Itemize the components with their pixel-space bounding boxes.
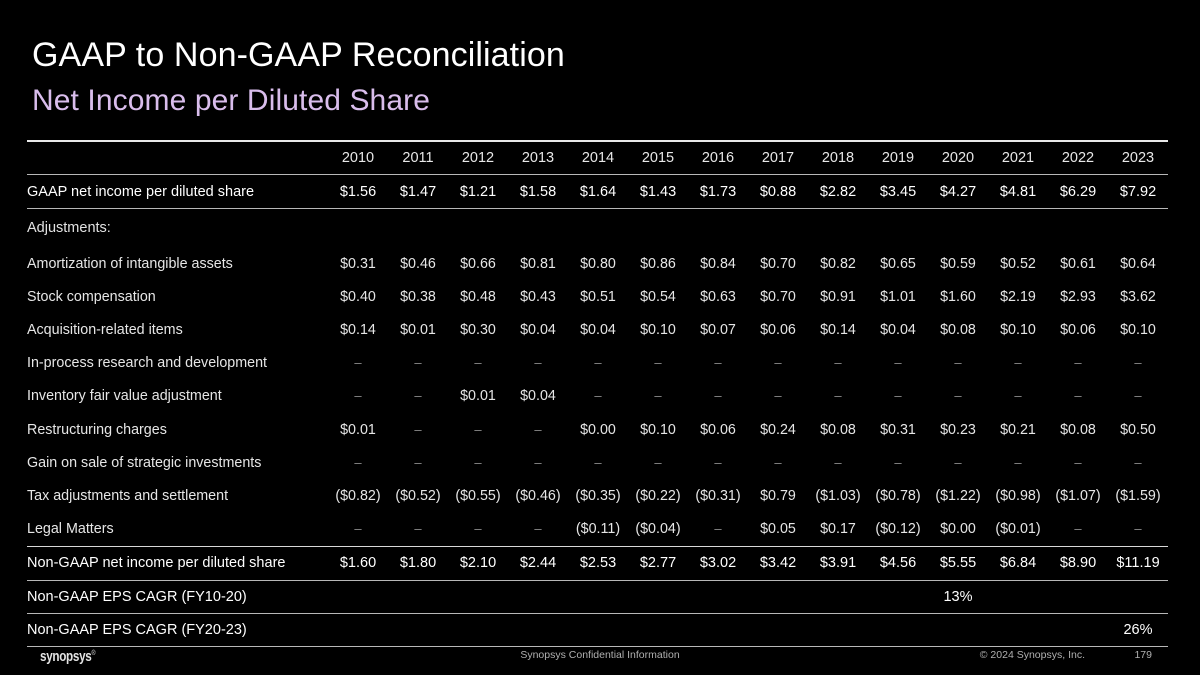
cell-adjustment-0-2015: $0.86: [628, 247, 688, 280]
cell-cagr-0-2019: [868, 580, 928, 613]
row-label-adjustment-0: Amortization of intangible assets: [27, 247, 328, 280]
column-header-year-2018: 2018: [808, 141, 868, 175]
cell-gaap-2010: $1.56: [328, 175, 388, 209]
cell-adjustment-2-2015: $0.10: [628, 313, 688, 346]
cell-adjustments-2010: [328, 209, 388, 248]
empty-value-dash: –: [1014, 388, 1021, 403]
cell-adjustment-1-2017: $0.70: [748, 280, 808, 313]
empty-value-dash: –: [774, 355, 781, 370]
cell-adjustment-2-2018: $0.14: [808, 313, 868, 346]
cell-adjustment-2-2014: $0.04: [568, 313, 628, 346]
cell-cagr-0-2012: [448, 580, 508, 613]
empty-value-dash: –: [534, 455, 541, 470]
cell-adjustment-1-2014: $0.51: [568, 280, 628, 313]
cell-cagr-0-2014: [568, 580, 628, 613]
cell-adjustment-5-2014: $0.00: [568, 413, 628, 446]
cell-nongaap-2013: $2.44: [508, 546, 568, 580]
empty-value-dash: –: [654, 355, 661, 370]
column-header-year-2020: 2020: [928, 141, 988, 175]
cell-adjustment-5-2018: $0.08: [808, 413, 868, 446]
cell-adjustment-7-2020: ($1.22): [928, 479, 988, 512]
cell-adjustment-1-2022: $2.93: [1048, 280, 1108, 313]
empty-value-dash: –: [534, 521, 541, 536]
empty-value-dash: –: [954, 455, 961, 470]
cell-nongaap-2021: $6.84: [988, 546, 1048, 580]
reconciliation-table: 2010201120122013201420152016201720182019…: [27, 140, 1168, 647]
cell-adjustments-2014: [568, 209, 628, 248]
cell-cagr-0-2021: [988, 580, 1048, 613]
cell-adjustments-2021: [988, 209, 1048, 248]
empty-value-dash: –: [354, 388, 361, 403]
column-header-year-2011: 2011: [388, 141, 448, 175]
cell-adjustment-3-2016: –: [688, 347, 748, 380]
empty-value-dash: –: [474, 355, 481, 370]
cell-adjustments-2017: [748, 209, 808, 248]
cell-adjustment-3-2020: –: [928, 347, 988, 380]
cell-adjustment-8-2022: –: [1048, 513, 1108, 547]
row-label-cagr-1: Non-GAAP EPS CAGR (FY20-23): [27, 613, 328, 646]
cell-adjustments-2012: [448, 209, 508, 248]
cell-adjustment-5-2016: $0.06: [688, 413, 748, 446]
cell-adjustment-3-2011: –: [388, 347, 448, 380]
cell-adjustment-4-2022: –: [1048, 380, 1108, 413]
cell-adjustment-7-2011: ($0.52): [388, 479, 448, 512]
cell-adjustment-1-2016: $0.63: [688, 280, 748, 313]
column-header-year-2022: 2022: [1048, 141, 1108, 175]
footer-copyright-text: © 2024 Synopsys, Inc.: [980, 649, 1085, 661]
cell-cagr-0-2010: [328, 580, 388, 613]
cell-gaap-2012: $1.21: [448, 175, 508, 209]
column-header-year-2019: 2019: [868, 141, 928, 175]
cell-adjustment-0-2022: $0.61: [1048, 247, 1108, 280]
cell-adjustment-8-2018: $0.17: [808, 513, 868, 547]
row-label-adjustment-1: Stock compensation: [27, 280, 328, 313]
cell-cagr-1-2011: [388, 613, 448, 646]
cell-adjustment-0-2019: $0.65: [868, 247, 928, 280]
column-header-year-2012: 2012: [448, 141, 508, 175]
empty-value-dash: –: [414, 355, 421, 370]
cell-nongaap-2014: $2.53: [568, 546, 628, 580]
cell-adjustment-6-2013: –: [508, 446, 568, 479]
cell-adjustment-8-2015: ($0.04): [628, 513, 688, 547]
empty-value-dash: –: [954, 388, 961, 403]
cell-gaap-2017: $0.88: [748, 175, 808, 209]
cell-gaap-2023: $7.92: [1108, 175, 1168, 209]
cell-adjustment-2-2017: $0.06: [748, 313, 808, 346]
empty-value-dash: –: [474, 521, 481, 536]
column-header-year-2017: 2017: [748, 141, 808, 175]
cell-cagr-1-2017: [748, 613, 808, 646]
cell-adjustment-7-2010: ($0.82): [328, 479, 388, 512]
cell-adjustment-4-2020: –: [928, 380, 988, 413]
empty-value-dash: –: [414, 422, 421, 437]
cell-adjustment-2-2022: $0.06: [1048, 313, 1108, 346]
cell-adjustments-2019: [868, 209, 928, 248]
cell-adjustment-6-2016: –: [688, 446, 748, 479]
cell-adjustment-6-2012: –: [448, 446, 508, 479]
cell-cagr-0-2016: [688, 580, 748, 613]
table-row: In-process research and development–––––…: [27, 347, 1168, 380]
cell-adjustment-1-2013: $0.43: [508, 280, 568, 313]
cell-gaap-2013: $1.58: [508, 175, 568, 209]
row-label-adjustment-7: Tax adjustments and settlement: [27, 479, 328, 512]
cell-adjustment-6-2022: –: [1048, 446, 1108, 479]
cell-adjustment-1-2015: $0.54: [628, 280, 688, 313]
cell-adjustment-8-2013: –: [508, 513, 568, 547]
empty-value-dash: –: [1014, 355, 1021, 370]
empty-value-dash: –: [414, 388, 421, 403]
cell-adjustment-4-2019: –: [868, 380, 928, 413]
cell-adjustment-4-2017: –: [748, 380, 808, 413]
cell-adjustment-4-2018: –: [808, 380, 868, 413]
empty-value-dash: –: [354, 355, 361, 370]
column-header-year-2016: 2016: [688, 141, 748, 175]
cell-cagr-1-2015: [628, 613, 688, 646]
cell-adjustment-0-2017: $0.70: [748, 247, 808, 280]
cell-adjustment-7-2016: ($0.31): [688, 479, 748, 512]
row-label-cagr-0: Non-GAAP EPS CAGR (FY10-20): [27, 580, 328, 613]
row-label-adjustment-3: In-process research and development: [27, 347, 328, 380]
cell-adjustment-0-2020: $0.59: [928, 247, 988, 280]
cell-adjustments-2018: [808, 209, 868, 248]
empty-value-dash: –: [1074, 388, 1081, 403]
column-header-year-2013: 2013: [508, 141, 568, 175]
empty-value-dash: –: [654, 455, 661, 470]
empty-value-dash: –: [894, 455, 901, 470]
empty-value-dash: –: [1134, 388, 1141, 403]
column-header-year-2015: 2015: [628, 141, 688, 175]
cell-adjustment-5-2015: $0.10: [628, 413, 688, 446]
row-label-gaap-net-income: GAAP net income per diluted share: [27, 175, 328, 209]
cell-cagr-1-2012: [448, 613, 508, 646]
table-row: Stock compensation$0.40$0.38$0.48$0.43$0…: [27, 280, 1168, 313]
cell-adjustment-8-2010: –: [328, 513, 388, 547]
table-row-adjustments-header: Adjustments:: [27, 209, 1168, 248]
cell-nongaap-2015: $2.77: [628, 546, 688, 580]
cell-adjustments-2022: [1048, 209, 1108, 248]
cell-cagr-1-2014: [568, 613, 628, 646]
cell-adjustment-3-2019: –: [868, 347, 928, 380]
empty-value-dash: –: [654, 388, 661, 403]
cell-adjustment-6-2020: –: [928, 446, 988, 479]
cell-adjustments-2015: [628, 209, 688, 248]
cell-nongaap-2017: $3.42: [748, 546, 808, 580]
cell-nongaap-2010: $1.60: [328, 546, 388, 580]
cell-adjustment-5-2010: $0.01: [328, 413, 388, 446]
cell-cagr-0-2015: [628, 580, 688, 613]
cell-adjustments-2020: [928, 209, 988, 248]
cell-cagr-0-2022: [1048, 580, 1108, 613]
empty-value-dash: –: [474, 455, 481, 470]
table-row-cagr-1: Non-GAAP EPS CAGR (FY20-23)26%: [27, 613, 1168, 646]
table-row: Restructuring charges$0.01–––$0.00$0.10$…: [27, 413, 1168, 446]
cell-adjustment-5-2011: –: [388, 413, 448, 446]
cell-adjustment-8-2019: ($0.12): [868, 513, 928, 547]
cell-cagr-1-2013: [508, 613, 568, 646]
table-row: Legal Matters––––($0.11)($0.04)–$0.05$0.…: [27, 513, 1168, 547]
cell-adjustment-7-2021: ($0.98): [988, 479, 1048, 512]
table-row: Gain on sale of strategic investments–––…: [27, 446, 1168, 479]
table-header-row: 2010201120122013201420152016201720182019…: [27, 141, 1168, 175]
cell-adjustment-2-2010: $0.14: [328, 313, 388, 346]
table-row: Acquisition-related items$0.14$0.01$0.30…: [27, 313, 1168, 346]
cell-gaap-2020: $4.27: [928, 175, 988, 209]
column-header-year-2021: 2021: [988, 141, 1048, 175]
table-row-gaap-net-income: GAAP net income per diluted share$1.56$1…: [27, 175, 1168, 209]
cell-adjustment-2-2021: $0.10: [988, 313, 1048, 346]
cell-adjustment-4-2015: –: [628, 380, 688, 413]
cell-cagr-1-2020: [928, 613, 988, 646]
cell-adjustment-2-2011: $0.01: [388, 313, 448, 346]
cell-adjustment-0-2013: $0.81: [508, 247, 568, 280]
cell-adjustment-0-2021: $0.52: [988, 247, 1048, 280]
cell-adjustment-4-2011: –: [388, 380, 448, 413]
page-subtitle: Net Income per Diluted Share: [32, 84, 430, 118]
cell-adjustment-7-2022: ($1.07): [1048, 479, 1108, 512]
empty-value-dash: –: [594, 455, 601, 470]
cell-gaap-2021: $4.81: [988, 175, 1048, 209]
column-header-year-2014: 2014: [568, 141, 628, 175]
cell-adjustment-5-2020: $0.23: [928, 413, 988, 446]
cell-adjustments-2013: [508, 209, 568, 248]
cell-cagr-0-2018: [808, 580, 868, 613]
cell-gaap-2011: $1.47: [388, 175, 448, 209]
cell-adjustment-4-2014: –: [568, 380, 628, 413]
cell-adjustment-7-2014: ($0.35): [568, 479, 628, 512]
cell-adjustment-7-2015: ($0.22): [628, 479, 688, 512]
cell-cagr-1-2018: [808, 613, 868, 646]
empty-value-dash: –: [1134, 455, 1141, 470]
cell-adjustment-1-2011: $0.38: [388, 280, 448, 313]
cell-adjustment-3-2012: –: [448, 347, 508, 380]
empty-value-dash: –: [714, 355, 721, 370]
cell-adjustment-5-2022: $0.08: [1048, 413, 1108, 446]
cell-adjustment-3-2018: –: [808, 347, 868, 380]
cell-adjustment-2-2016: $0.07: [688, 313, 748, 346]
cell-nongaap-2012: $2.10: [448, 546, 508, 580]
cell-adjustment-0-2016: $0.84: [688, 247, 748, 280]
empty-value-dash: –: [834, 355, 841, 370]
table-row-cagr-0: Non-GAAP EPS CAGR (FY10-20)13%: [27, 580, 1168, 613]
cell-adjustment-1-2018: $0.91: [808, 280, 868, 313]
cell-adjustment-8-2020: $0.00: [928, 513, 988, 547]
cell-adjustment-5-2017: $0.24: [748, 413, 808, 446]
cell-adjustment-1-2012: $0.48: [448, 280, 508, 313]
cell-adjustments-2011: [388, 209, 448, 248]
cell-nongaap-2020: $5.55: [928, 546, 988, 580]
empty-value-dash: –: [1134, 355, 1141, 370]
cell-adjustment-8-2014: ($0.11): [568, 513, 628, 547]
empty-value-dash: –: [354, 455, 361, 470]
cell-adjustment-7-2019: ($0.78): [868, 479, 928, 512]
empty-value-dash: –: [714, 521, 721, 536]
cell-adjustment-8-2023: –: [1108, 513, 1168, 547]
cell-adjustment-6-2014: –: [568, 446, 628, 479]
cell-nongaap-2019: $4.56: [868, 546, 928, 580]
page-title: GAAP to Non-GAAP Reconciliation: [32, 36, 565, 75]
cell-adjustment-6-2015: –: [628, 446, 688, 479]
cell-cagr-0-2020: 13%: [928, 580, 988, 613]
cell-adjustment-8-2011: –: [388, 513, 448, 547]
cell-adjustment-2-2023: $0.10: [1108, 313, 1168, 346]
cell-adjustment-0-2018: $0.82: [808, 247, 868, 280]
cell-adjustment-2-2013: $0.04: [508, 313, 568, 346]
cell-adjustment-6-2017: –: [748, 446, 808, 479]
cell-adjustment-2-2012: $0.30: [448, 313, 508, 346]
cell-adjustment-2-2020: $0.08: [928, 313, 988, 346]
cell-adjustment-8-2012: –: [448, 513, 508, 547]
cell-nongaap-2023: $11.19: [1108, 546, 1168, 580]
cell-adjustment-7-2012: ($0.55): [448, 479, 508, 512]
cell-adjustment-7-2017: $0.79: [748, 479, 808, 512]
cell-adjustment-0-2012: $0.66: [448, 247, 508, 280]
cell-adjustment-0-2014: $0.80: [568, 247, 628, 280]
empty-value-dash: –: [954, 355, 961, 370]
cell-adjustment-3-2015: –: [628, 347, 688, 380]
cell-gaap-2019: $3.45: [868, 175, 928, 209]
cell-gaap-2014: $1.64: [568, 175, 628, 209]
cell-nongaap-2018: $3.91: [808, 546, 868, 580]
cell-cagr-1-2022: [1048, 613, 1108, 646]
cell-adjustment-3-2017: –: [748, 347, 808, 380]
cell-adjustment-6-2019: –: [868, 446, 928, 479]
cell-adjustment-6-2011: –: [388, 446, 448, 479]
cell-adjustment-6-2018: –: [808, 446, 868, 479]
row-label-adjustments: Adjustments:: [27, 209, 328, 248]
column-header-year-2023: 2023: [1108, 141, 1168, 175]
cell-adjustment-3-2021: –: [988, 347, 1048, 380]
cell-adjustment-8-2021: ($0.01): [988, 513, 1048, 547]
empty-value-dash: –: [354, 521, 361, 536]
cell-cagr-0-2023: [1108, 580, 1168, 613]
cell-adjustment-1-2020: $1.60: [928, 280, 988, 313]
footer-page-number: 179: [1134, 649, 1152, 661]
cell-gaap-2022: $6.29: [1048, 175, 1108, 209]
empty-value-dash: –: [894, 355, 901, 370]
cell-adjustment-4-2013: $0.04: [508, 380, 568, 413]
cell-adjustment-0-2011: $0.46: [388, 247, 448, 280]
cell-adjustment-5-2012: –: [448, 413, 508, 446]
empty-value-dash: –: [774, 388, 781, 403]
empty-value-dash: –: [834, 388, 841, 403]
table-row: Tax adjustments and settlement($0.82)($0…: [27, 479, 1168, 512]
cell-adjustment-3-2014: –: [568, 347, 628, 380]
cell-adjustment-4-2010: –: [328, 380, 388, 413]
cell-adjustment-1-2021: $2.19: [988, 280, 1048, 313]
cell-adjustment-7-2018: ($1.03): [808, 479, 868, 512]
cell-adjustment-2-2019: $0.04: [868, 313, 928, 346]
row-label-nongaap-net-income: Non-GAAP net income per diluted share: [27, 546, 328, 580]
cell-adjustment-6-2023: –: [1108, 446, 1168, 479]
row-label-adjustment-8: Legal Matters: [27, 513, 328, 547]
cell-adjustments-2023: [1108, 209, 1168, 248]
empty-value-dash: –: [534, 355, 541, 370]
cell-adjustment-5-2019: $0.31: [868, 413, 928, 446]
empty-value-dash: –: [474, 422, 481, 437]
cell-adjustment-6-2021: –: [988, 446, 1048, 479]
cell-gaap-2018: $2.82: [808, 175, 868, 209]
cell-adjustment-3-2023: –: [1108, 347, 1168, 380]
row-label-adjustment-6: Gain on sale of strategic investments: [27, 446, 328, 479]
cell-adjustment-0-2010: $0.31: [328, 247, 388, 280]
empty-value-dash: –: [414, 521, 421, 536]
cell-adjustment-1-2010: $0.40: [328, 280, 388, 313]
column-header-year-2010: 2010: [328, 141, 388, 175]
cell-adjustment-3-2013: –: [508, 347, 568, 380]
cell-cagr-0-2011: [388, 580, 448, 613]
cell-cagr-0-2017: [748, 580, 808, 613]
cell-adjustment-3-2022: –: [1048, 347, 1108, 380]
empty-value-dash: –: [594, 388, 601, 403]
table-row-nongaap-net-income: Non-GAAP net income per diluted share$1.…: [27, 546, 1168, 580]
empty-value-dash: –: [594, 355, 601, 370]
cell-cagr-1-2021: [988, 613, 1048, 646]
empty-value-dash: –: [834, 455, 841, 470]
cell-adjustments-2016: [688, 209, 748, 248]
cell-adjustment-0-2023: $0.64: [1108, 247, 1168, 280]
cell-adjustment-1-2019: $1.01: [868, 280, 928, 313]
cell-adjustment-4-2021: –: [988, 380, 1048, 413]
empty-value-dash: –: [1074, 521, 1081, 536]
cell-adjustment-4-2016: –: [688, 380, 748, 413]
row-label-adjustment-2: Acquisition-related items: [27, 313, 328, 346]
cell-adjustment-5-2023: $0.50: [1108, 413, 1168, 446]
cell-adjustment-7-2013: ($0.46): [508, 479, 568, 512]
cell-adjustment-1-2023: $3.62: [1108, 280, 1168, 313]
cell-adjustment-4-2012: $0.01: [448, 380, 508, 413]
empty-value-dash: –: [894, 388, 901, 403]
cell-adjustment-8-2016: –: [688, 513, 748, 547]
empty-value-dash: –: [534, 422, 541, 437]
empty-value-dash: –: [1014, 455, 1021, 470]
cell-adjustment-3-2010: –: [328, 347, 388, 380]
cell-gaap-2015: $1.43: [628, 175, 688, 209]
table-row: Amortization of intangible assets$0.31$0…: [27, 247, 1168, 280]
cell-adjustment-6-2010: –: [328, 446, 388, 479]
column-header-blank: [27, 141, 328, 175]
row-label-adjustment-4: Inventory fair value adjustment: [27, 380, 328, 413]
empty-value-dash: –: [714, 455, 721, 470]
empty-value-dash: –: [414, 455, 421, 470]
cell-cagr-1-2010: [328, 613, 388, 646]
empty-value-dash: –: [774, 455, 781, 470]
row-label-adjustment-5: Restructuring charges: [27, 413, 328, 446]
cell-nongaap-2022: $8.90: [1048, 546, 1108, 580]
cell-adjustment-8-2017: $0.05: [748, 513, 808, 547]
cell-adjustment-4-2023: –: [1108, 380, 1168, 413]
empty-value-dash: –: [1074, 455, 1081, 470]
table-row: Inventory fair value adjustment––$0.01$0…: [27, 380, 1168, 413]
cell-cagr-0-2013: [508, 580, 568, 613]
cell-adjustment-5-2021: $0.21: [988, 413, 1048, 446]
cell-adjustment-7-2023: ($1.59): [1108, 479, 1168, 512]
empty-value-dash: –: [1134, 521, 1141, 536]
cell-cagr-1-2023: 26%: [1108, 613, 1168, 646]
cell-nongaap-2011: $1.80: [388, 546, 448, 580]
cell-gaap-2016: $1.73: [688, 175, 748, 209]
cell-adjustment-5-2013: –: [508, 413, 568, 446]
cell-nongaap-2016: $3.02: [688, 546, 748, 580]
empty-value-dash: –: [1074, 355, 1081, 370]
empty-value-dash: –: [714, 388, 721, 403]
cell-cagr-1-2016: [688, 613, 748, 646]
cell-cagr-1-2019: [868, 613, 928, 646]
